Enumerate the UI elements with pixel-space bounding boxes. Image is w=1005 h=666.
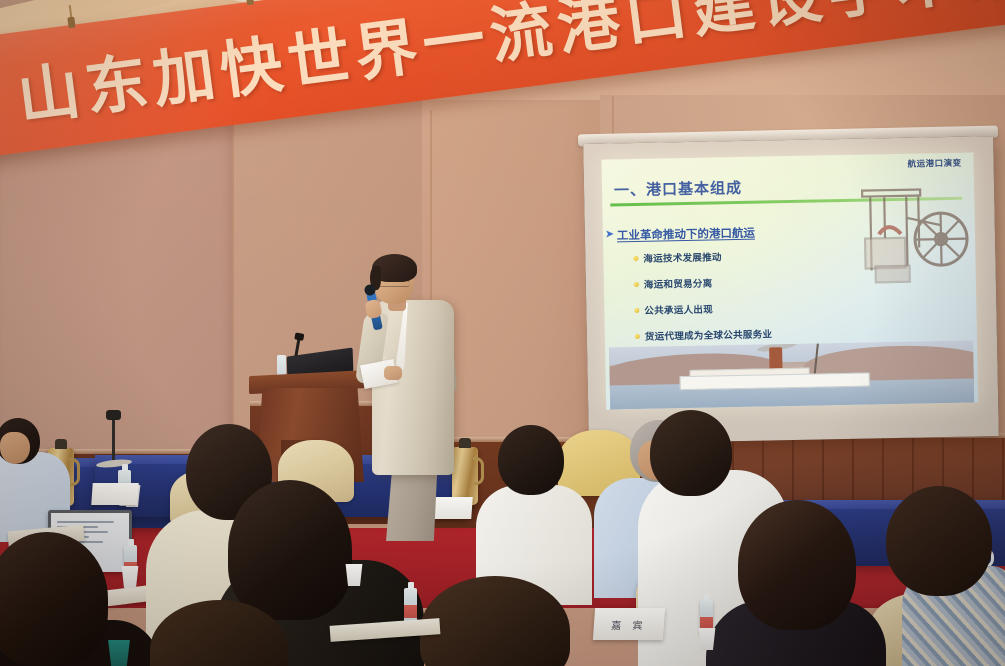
bullet-text: 货运代理成为全球公共服务业: [645, 326, 773, 342]
list-item: 海运技术发展推动: [633, 248, 771, 265]
bullet-dot-icon: [634, 281, 639, 286]
list-item: 公共承运人出现: [634, 300, 772, 317]
presentation-slide: 航运港口演变 一、港口基本组成 ➤ 工业革命推动下的港口航运: [601, 152, 978, 409]
conference-photo-scene: 航运港口演变 一、港口基本组成 ➤ 工业革命推动下的港口航运: [0, 0, 1005, 666]
paddle-steamship-illustration: [609, 341, 974, 410]
name-card-text: 嘉 宾: [611, 617, 647, 632]
bullet-dot-icon: [635, 333, 640, 338]
list-item: 海运和贸易分离: [634, 274, 772, 291]
speaker-hand-holding-notes: [384, 366, 402, 380]
wall-seam: [232, 104, 234, 454]
microphone-stand: [112, 418, 115, 462]
slide-subtitle: 工业革命推动下的港口航运: [617, 225, 755, 244]
banner-clip-icon: [67, 17, 75, 29]
bullet-text: 海运和贸易分离: [644, 276, 713, 291]
bullet-text: 海运技术发展推动: [643, 249, 722, 265]
eyeglasses-icon: [376, 280, 410, 287]
slide-title: 一、港口基本组成: [614, 177, 742, 200]
water-bottle: [404, 588, 417, 624]
bullet-dot-icon: [633, 255, 638, 260]
bullet-text: 公共承运人出现: [644, 302, 713, 317]
slide-header-label: 航运港口演变: [907, 157, 961, 170]
bullet-dot-icon: [634, 307, 639, 312]
steam-engine-illustration: [840, 177, 970, 299]
list-item: 货运代理成为全球公共服务业: [635, 326, 773, 343]
slide-arrow-icon: ➤: [605, 227, 614, 240]
delegate-name-card: [91, 483, 139, 505]
ship-funnel: [769, 347, 782, 369]
delegate-name-card: 嘉 宾: [593, 608, 665, 640]
projection-screen[interactable]: 航运港口演变 一、港口基本组成 ➤ 工业革命推动下的港口航运: [583, 136, 999, 444]
